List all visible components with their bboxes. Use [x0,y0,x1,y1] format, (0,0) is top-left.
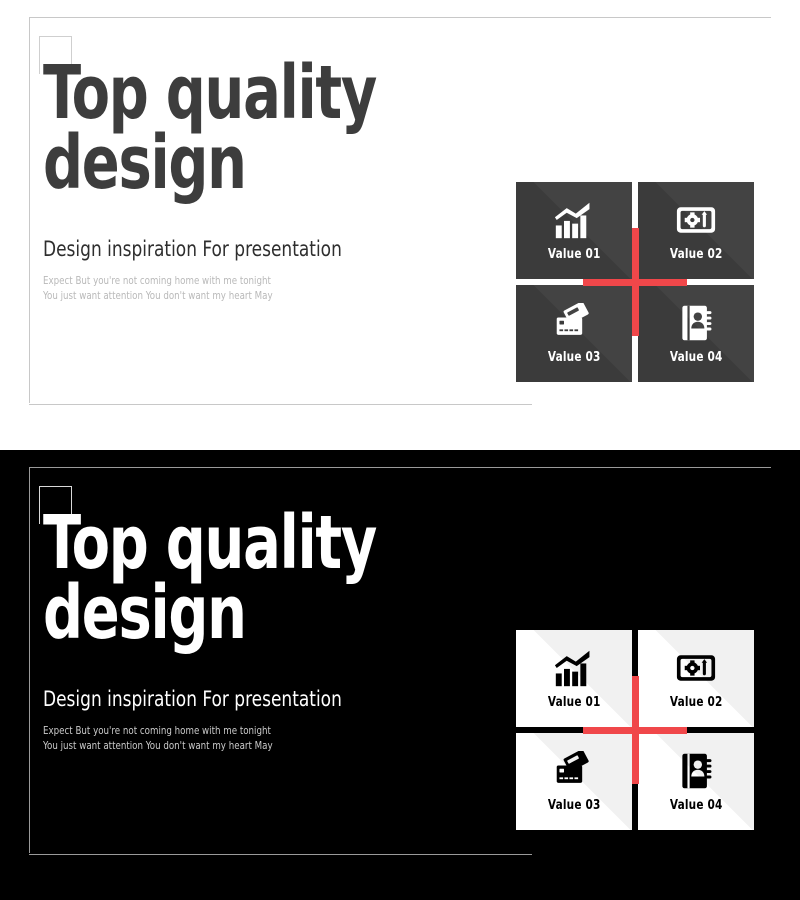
value-tile-01[interactable]: Value 01 [516,182,632,279]
value-tile-04[interactable]: Value 04 [638,733,754,830]
bar-chart-growth-icon [552,200,596,240]
body-text-line-1: Expect But you're not coming home with m… [43,724,439,739]
value-tile-02[interactable]: Value 02 [638,182,754,279]
value-tile-03-label: Value 03 [548,798,601,813]
credit-cards-icon [552,751,596,791]
value-tile-01-label: Value 01 [548,695,601,710]
bar-chart-growth-icon [552,648,596,688]
value-tile-03[interactable]: Value 03 [516,285,632,382]
value-tile-grid: Value 01 Value 02 [516,182,754,382]
subtitle: Design inspiration For presentation [43,687,430,711]
value-tile-02[interactable]: Value 02 [638,630,754,727]
slide-deck: Top quality design Design inspiration Fo… [0,0,800,900]
value-tile-02-label: Value 02 [670,695,723,710]
slide-dark: Top quality design Design inspiration Fo… [0,450,800,900]
slide-light: Top quality design Design inspiration Fo… [0,0,800,450]
value-tile-01-label: Value 01 [548,247,601,262]
address-book-icon [674,303,718,343]
value-tile-04-label: Value 04 [670,798,723,813]
text-block: Top quality design Design inspiration Fo… [43,508,473,754]
body-text-line-2: You just want attention You don't want m… [43,289,439,304]
value-tile-04[interactable]: Value 04 [638,285,754,382]
body-text-line-2: You just want attention You don't want m… [43,739,439,754]
page-title: Top quality design [43,508,404,649]
value-tile-01[interactable]: Value 01 [516,630,632,727]
safe-vault-icon [674,648,718,688]
page-title: Top quality design [43,58,404,199]
text-block: Top quality design Design inspiration Fo… [43,58,473,304]
body-text-line-1: Expect But you're not coming home with m… [43,274,439,289]
safe-vault-icon [674,200,718,240]
credit-cards-icon [552,303,596,343]
value-tile-04-label: Value 04 [670,350,723,365]
value-tile-grid: Value 01 Value 02 [516,630,754,830]
address-book-icon [674,751,718,791]
value-tile-02-label: Value 02 [670,247,723,262]
value-tile-03-label: Value 03 [548,350,601,365]
subtitle: Design inspiration For presentation [43,237,430,261]
body-text: Expect But you're not coming home with m… [43,724,439,754]
value-tile-03[interactable]: Value 03 [516,733,632,830]
body-text: Expect But you're not coming home with m… [43,274,439,304]
